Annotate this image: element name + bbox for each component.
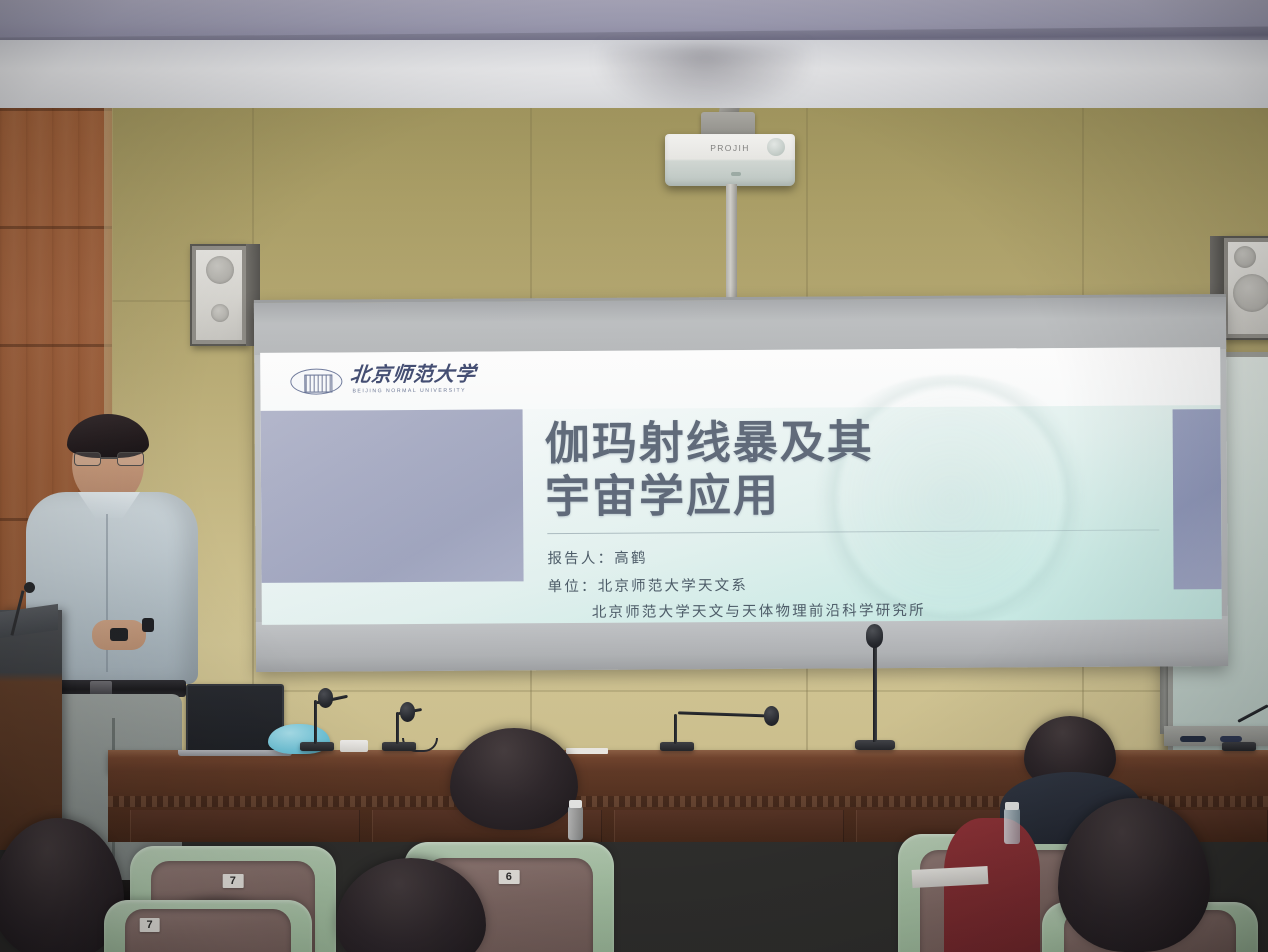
wristwatch-icon	[142, 618, 154, 632]
bottle-cap	[1005, 802, 1019, 810]
university-logo: 北京师范大学 BEIJING NORMAL UNIVERSITY	[290, 359, 530, 404]
microphone-stem	[674, 714, 677, 744]
speaker-tweeter	[1234, 246, 1256, 268]
water-bottle	[568, 806, 583, 840]
slide-divider-rule	[547, 529, 1159, 534]
microphone-base	[1222, 742, 1256, 751]
microphone-head-icon	[318, 688, 333, 708]
podium-microphone-icon	[24, 582, 35, 593]
laptop-base	[178, 750, 292, 756]
screen-bottom-border	[256, 616, 1228, 672]
slide-title-line-1: 伽玛射线暴及其	[545, 413, 1205, 470]
microphone-head-icon	[764, 706, 779, 726]
projection-screen: 北京师范大学 BEIJING NORMAL UNIVERSITY 伽玛射线暴及其…	[254, 294, 1228, 672]
microphone-base	[382, 742, 416, 751]
screen-top-border	[254, 297, 1226, 355]
microphone-base	[300, 742, 334, 751]
wall-speaker-left	[190, 244, 248, 346]
speaker-cone	[1233, 274, 1268, 312]
microphone-stem	[314, 700, 317, 744]
slide-title: 伽玛射线暴及其 宇宙学应用	[545, 413, 1206, 523]
slide-presenter-line: 报告人：高鹤	[547, 547, 647, 569]
microphone-stem	[396, 712, 399, 744]
paper-sheet	[566, 748, 608, 754]
marker-pen	[1180, 736, 1206, 742]
slide-affiliation-line-1: 单位：北京师范大学天文系	[548, 574, 749, 596]
speaker-tweeter	[211, 304, 229, 322]
microphone-base	[660, 742, 694, 751]
lecture-hall-photo: PROJIH 北京师范大学 BEIJING NORMAL UNIVERSITY …	[0, 0, 1268, 952]
university-name-chinese: 北京师范大学	[349, 360, 478, 389]
speaker-cone	[206, 256, 234, 284]
university-seal-icon	[290, 368, 342, 394]
university-name-latin: BEIJING NORMAL UNIVERSITY	[352, 388, 466, 395]
desk-panel-section	[130, 810, 360, 842]
microphone-head-icon	[400, 702, 415, 722]
water-bottle	[1004, 808, 1020, 844]
presentation-slide: 北京师范大学 BEIJING NORMAL UNIVERSITY 伽玛射线暴及其…	[260, 347, 1222, 625]
microphone-stem	[873, 644, 877, 742]
projector-led-icon	[731, 172, 741, 176]
eyeglasses-icon	[74, 452, 144, 466]
wall-seam	[252, 108, 254, 778]
projector-lens-icon	[767, 138, 785, 156]
ceiling-shadow	[600, 44, 810, 114]
slide-title-line-2: 宇宙学应用	[545, 466, 1205, 523]
podium	[0, 610, 62, 850]
desk-panel-section	[614, 810, 844, 842]
seat-number: 7	[223, 874, 244, 888]
bottle-cap	[569, 800, 582, 808]
presentation-remote	[110, 628, 128, 641]
seat[interactable]: 7	[104, 900, 312, 952]
seat-number: 7	[139, 918, 160, 932]
seat-number: 6	[499, 870, 520, 884]
small-white-object	[340, 740, 368, 752]
slide-affiliation-line-2: 北京师范大学天文与天体物理前沿科学研究所	[592, 599, 926, 622]
projector-body: PROJIH	[665, 134, 795, 186]
wall-speaker-right	[1222, 236, 1268, 340]
microphone-head-icon	[866, 624, 883, 648]
slide-decorative-block-left	[261, 409, 524, 583]
